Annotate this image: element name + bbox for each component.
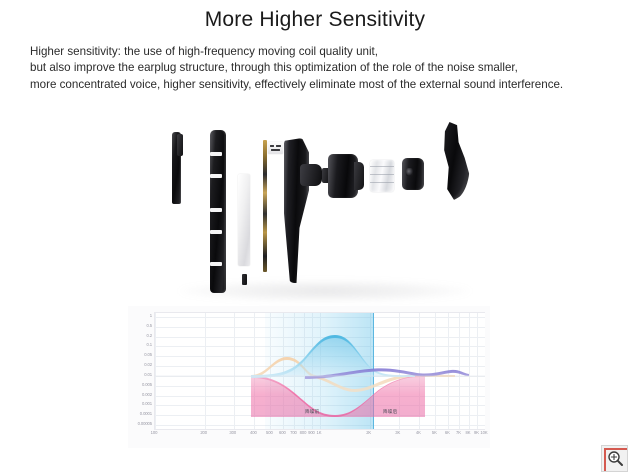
chart-y-axis: 10.50.20.10.050.020.010.0050.0020.0010.0… (128, 312, 152, 428)
product-detail-page: More Higher Sensitivity Higher sensitivi… (0, 0, 630, 474)
shell-rib (210, 152, 222, 156)
chart-y-tick: 0.01 (128, 373, 152, 377)
chart-annotation-after: 降噪后 (383, 409, 397, 415)
part-chip-cluster (268, 142, 283, 154)
shell-rib (210, 208, 222, 212)
shell-rib (210, 262, 222, 266)
part-white-battery (238, 174, 250, 266)
chart-y-tick: 0.1 (128, 343, 152, 347)
chart-y-tick: 0.001 (128, 402, 152, 406)
chart-y-tick: 0.005 (128, 383, 152, 387)
part-flex-pcb-strip (263, 140, 267, 272)
chart-x-tick: 2K (366, 430, 371, 435)
chart-x-tick: 1K (317, 430, 322, 435)
chart-x-tick: 500 (266, 430, 273, 435)
shell-rib (210, 174, 222, 178)
frequency-response-chart: 10.50.20.10.050.020.010.0050.0020.0010.0… (128, 306, 490, 448)
chamber-ring (370, 174, 394, 180)
chart-x-tick: 7K (456, 430, 461, 435)
chart-curves (155, 313, 485, 429)
chart-plot-area: 降噪前 降噪后 (154, 312, 485, 430)
description-line-3: more concentrated voice, higher sensitiv… (30, 77, 608, 93)
part-nozzle-port (406, 168, 413, 176)
zoom-in-button[interactable] (601, 445, 628, 472)
chart-y-tick: 0.0001 (128, 412, 152, 416)
chart-x-tick: 5K (432, 430, 437, 435)
chart-y-tick: 0.002 (128, 393, 152, 397)
chart-x-tick: 300 (229, 430, 236, 435)
chart-x-tick: 6K (445, 430, 450, 435)
chart-y-tick: 0.5 (128, 324, 152, 328)
part-small-black-block (242, 274, 247, 285)
part-driver-cone (354, 162, 364, 190)
chart-y-tick: 0.05 (128, 353, 152, 357)
description-line-2: but also improve the earplug structure, … (30, 60, 608, 76)
part-main-housing-arm (284, 138, 309, 283)
chart-x-tick: 700 (290, 430, 297, 435)
chart-x-axis: 1002003004005006007008009001K2K3K4K5K6K7… (154, 430, 484, 440)
page-title: More Higher Sensitivity (0, 8, 630, 32)
product-exploded-view-image (150, 112, 490, 302)
part-silicone-ear-hook (432, 122, 470, 200)
chart-y-tick: 0.00005 (128, 422, 152, 426)
page-description: Higher sensitivity: the use of high-freq… (30, 44, 608, 93)
shell-rib (210, 230, 222, 234)
chart-x-tick: 4K (416, 430, 421, 435)
chart-y-tick: 0.2 (128, 334, 152, 338)
chart-x-tick: 200 (200, 430, 207, 435)
chart-x-tick: 9K (474, 430, 479, 435)
chart-x-tick: 900 (308, 430, 315, 435)
chart-x-tick: 8K (466, 430, 471, 435)
chart-y-tick: 0.02 (128, 363, 152, 367)
magnifier-plus-icon (607, 450, 624, 467)
chamber-ring (370, 166, 394, 172)
part-side-clip-detail (177, 134, 183, 156)
chart-x-tick: 100 (151, 430, 158, 435)
chart-x-tick: 800 (300, 430, 307, 435)
chart-x-tick: 3K (395, 430, 400, 435)
chart-x-tick: 10K (480, 430, 487, 435)
chart-annotation-before: 降噪前 (305, 409, 319, 415)
chart-x-tick: 600 (279, 430, 286, 435)
description-line-1: Higher sensitivity: the use of high-freq… (30, 44, 608, 60)
chart-y-tick: 1 (128, 314, 152, 318)
chamber-ring (370, 182, 394, 188)
part-housing-connector (300, 164, 322, 186)
chart-x-tick: 400 (250, 430, 257, 435)
